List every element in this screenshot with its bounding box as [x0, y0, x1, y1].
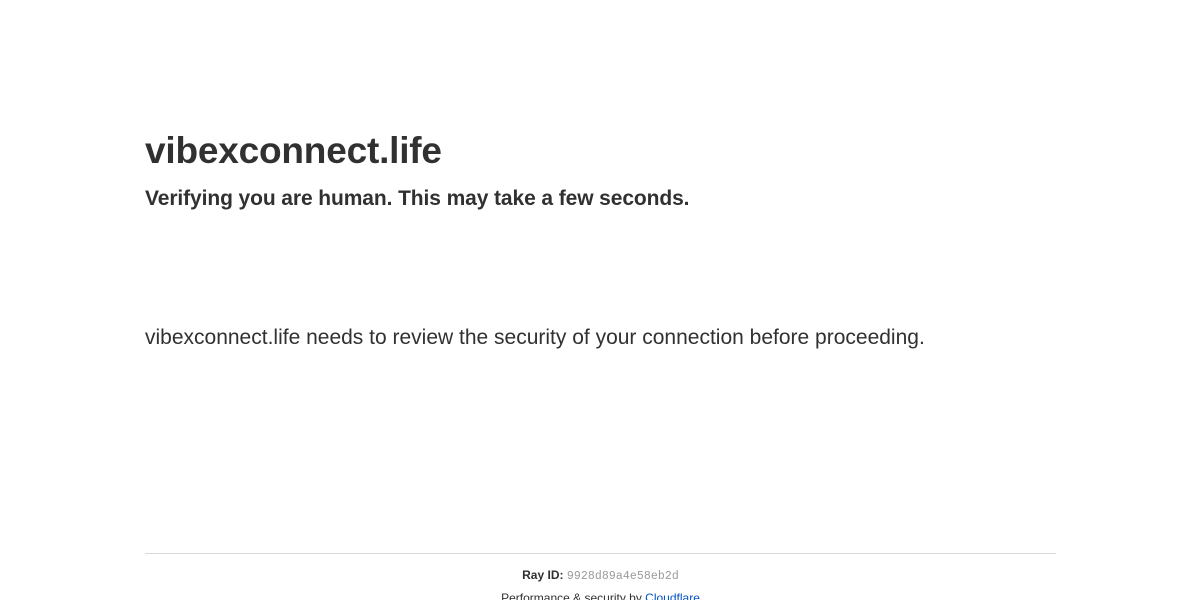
explanation-section: vibexconnect.life needs to review the se…	[145, 320, 945, 356]
attribution-prefix: Performance & security by	[501, 591, 645, 600]
ray-id-value: 9928d89a4e58eb2d	[567, 570, 679, 583]
ray-id-label: Ray ID:	[522, 568, 563, 582]
turnstile-challenge-widget[interactable]	[145, 232, 475, 312]
verification-status-message: Verifying you are human. This may take a…	[145, 174, 1056, 212]
header-section: vibexconnect.life Verifying you are huma…	[145, 128, 1056, 212]
page-title: vibexconnect.life	[145, 128, 1056, 174]
content-container: vibexconnect.life Verifying you are huma…	[145, 0, 1056, 600]
ray-id-line: Ray ID: 9928d89a4e58eb2d	[145, 568, 1056, 584]
explanation-text: vibexconnect.life needs to review the se…	[145, 320, 945, 356]
challenge-page: vibexconnect.life Verifying you are huma…	[0, 0, 1200, 600]
footer: Ray ID: 9928d89a4e58eb2d Performance & s…	[145, 553, 1056, 600]
attribution-line: Performance & security by Cloudflare	[145, 584, 1056, 600]
cloudflare-link[interactable]: Cloudflare	[645, 591, 700, 600]
